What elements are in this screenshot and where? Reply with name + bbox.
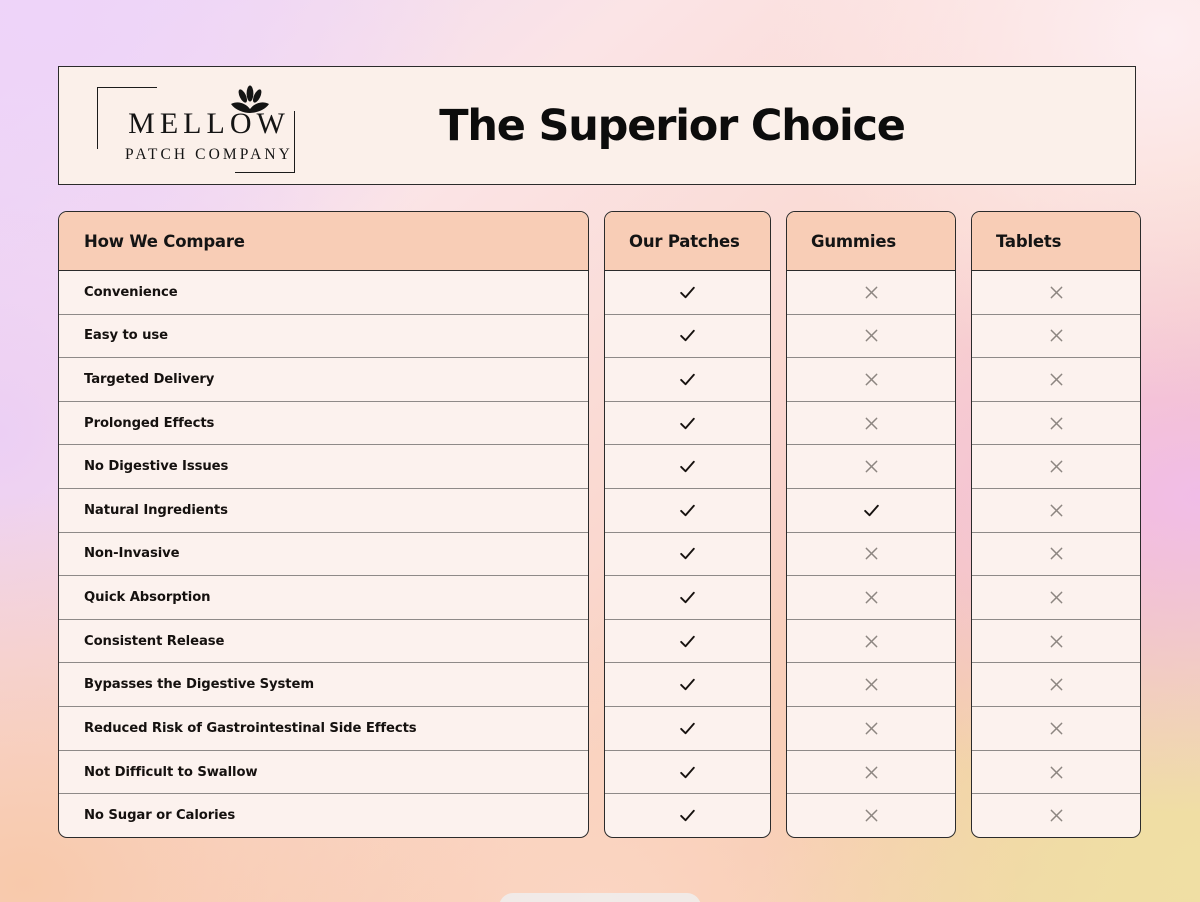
cross-icon [862, 588, 881, 607]
table-row: Bypasses the Digestive System [59, 662, 588, 706]
table-row: Convenience [59, 271, 588, 314]
logo-wordmark: MELLOW [99, 109, 319, 139]
comparison-cell [787, 662, 955, 706]
comparison-cell [972, 488, 1140, 532]
table-row: Reduced Risk of Gastrointestinal Side Ef… [59, 706, 588, 750]
table-row: Consistent Release [59, 619, 588, 663]
cross-icon [862, 544, 881, 563]
comparison-cell [605, 488, 770, 532]
cross-icon [862, 806, 881, 825]
feature-label: Convenience [84, 285, 178, 300]
comparison-cell [972, 532, 1140, 576]
column-tablets: Tablets [971, 211, 1141, 838]
cross-icon [1047, 414, 1066, 433]
check-icon [678, 544, 697, 563]
table-row: Natural Ingredients [59, 488, 588, 532]
comparison-cell [787, 314, 955, 358]
logo-subwordmark: PATCH COMPANY [91, 147, 327, 163]
comparison-table: How We Compare ConvenienceEasy to useTar… [58, 211, 1136, 838]
comparison-cell [787, 271, 955, 314]
comparison-cell [605, 750, 770, 794]
cross-icon [1047, 719, 1066, 738]
cross-icon [1047, 501, 1066, 520]
column-header-gummies: Gummies [787, 212, 955, 271]
mark-list-gummies [787, 271, 955, 837]
table-row: No Digestive Issues [59, 444, 588, 488]
comparison-cell [787, 793, 955, 837]
comparison-cell [605, 357, 770, 401]
check-icon [862, 501, 881, 520]
comparison-cell [605, 706, 770, 750]
comparison-cell [605, 619, 770, 663]
mark-list-tablets [972, 271, 1140, 837]
feature-cell-list: ConvenienceEasy to useTargeted DeliveryP… [59, 271, 588, 837]
comparison-cell [605, 575, 770, 619]
check-icon [678, 675, 697, 694]
comparison-cell [972, 750, 1140, 794]
check-icon [678, 806, 697, 825]
cross-icon [1047, 370, 1066, 389]
comparison-cell [972, 401, 1140, 445]
comparison-cell [972, 314, 1140, 358]
feature-label: Easy to use [84, 328, 168, 343]
check-icon [678, 719, 697, 738]
column-header-tablets: Tablets [972, 212, 1140, 271]
column-header-our-patches: Our Patches [605, 212, 770, 271]
cross-icon [1047, 544, 1066, 563]
check-icon [678, 370, 697, 389]
cross-icon [1047, 457, 1066, 476]
comparison-cell [787, 401, 955, 445]
cross-icon [862, 457, 881, 476]
comparison-cell [972, 706, 1140, 750]
comparison-cell [972, 444, 1140, 488]
header-banner: MELLOW PATCH COMPANY The Superior Choice [58, 66, 1136, 185]
check-icon [678, 763, 697, 782]
table-row: Quick Absorption [59, 575, 588, 619]
comparison-cell [605, 314, 770, 358]
comparison-cell [972, 575, 1140, 619]
cross-icon [862, 763, 881, 782]
comparison-cell [605, 271, 770, 314]
feature-label: Natural Ingredients [84, 503, 228, 518]
cross-icon [1047, 675, 1066, 694]
check-icon [678, 457, 697, 476]
feature-label: Non-Invasive [84, 546, 179, 561]
feature-label: Targeted Delivery [84, 372, 214, 387]
cross-icon [1047, 632, 1066, 651]
cross-icon [862, 414, 881, 433]
brand-logo: MELLOW PATCH COMPANY [59, 67, 359, 184]
comparison-cell [787, 488, 955, 532]
bottom-decorative-shape [499, 893, 701, 902]
cross-icon [1047, 326, 1066, 345]
table-row: Not Difficult to Swallow [59, 750, 588, 794]
cross-icon [862, 675, 881, 694]
cross-icon [1047, 283, 1066, 302]
comparison-cell [972, 662, 1140, 706]
comparison-cell [605, 444, 770, 488]
table-row: No Sugar or Calories [59, 793, 588, 837]
cross-icon [862, 283, 881, 302]
feature-label: Quick Absorption [84, 590, 210, 605]
comparison-cell [972, 619, 1140, 663]
check-icon [678, 632, 697, 651]
comparison-cell [787, 444, 955, 488]
comparison-cell [787, 706, 955, 750]
comparison-cell [787, 357, 955, 401]
comparison-cell [787, 532, 955, 576]
mark-list-our-patches [605, 271, 770, 837]
comparison-cell [972, 357, 1140, 401]
feature-label: No Digestive Issues [84, 459, 228, 474]
check-icon [678, 326, 697, 345]
comparison-cell [605, 532, 770, 576]
table-row: Prolonged Effects [59, 401, 588, 445]
column-gummies: Gummies [786, 211, 956, 838]
check-icon [678, 588, 697, 607]
comparison-cell [605, 793, 770, 837]
page-title: The Superior Choice [359, 101, 1135, 151]
column-our-patches: Our Patches [604, 211, 771, 838]
cross-icon [1047, 763, 1066, 782]
comparison-cell [605, 401, 770, 445]
check-icon [678, 501, 697, 520]
check-icon [678, 414, 697, 433]
comparison-cell [787, 619, 955, 663]
cross-icon [862, 632, 881, 651]
table-row: Non-Invasive [59, 532, 588, 576]
feature-label: No Sugar or Calories [84, 808, 235, 823]
table-row: Targeted Delivery [59, 357, 588, 401]
table-row: Easy to use [59, 314, 588, 358]
cross-icon [862, 370, 881, 389]
feature-label: Bypasses the Digestive System [84, 677, 314, 692]
comparison-cell [972, 271, 1140, 314]
cross-icon [1047, 806, 1066, 825]
cross-icon [862, 719, 881, 738]
feature-label: Not Difficult to Swallow [84, 765, 258, 780]
comparison-cell [787, 575, 955, 619]
check-icon [678, 283, 697, 302]
comparison-cell [787, 750, 955, 794]
comparison-cell [605, 662, 770, 706]
feature-column: How We Compare ConvenienceEasy to useTar… [58, 211, 589, 838]
comparison-cell [972, 793, 1140, 837]
feature-label: Prolonged Effects [84, 416, 214, 431]
feature-label: Consistent Release [84, 634, 224, 649]
cross-icon [1047, 588, 1066, 607]
feature-label: Reduced Risk of Gastrointestinal Side Ef… [84, 721, 417, 736]
cross-icon [862, 326, 881, 345]
feature-column-header: How We Compare [59, 212, 588, 271]
